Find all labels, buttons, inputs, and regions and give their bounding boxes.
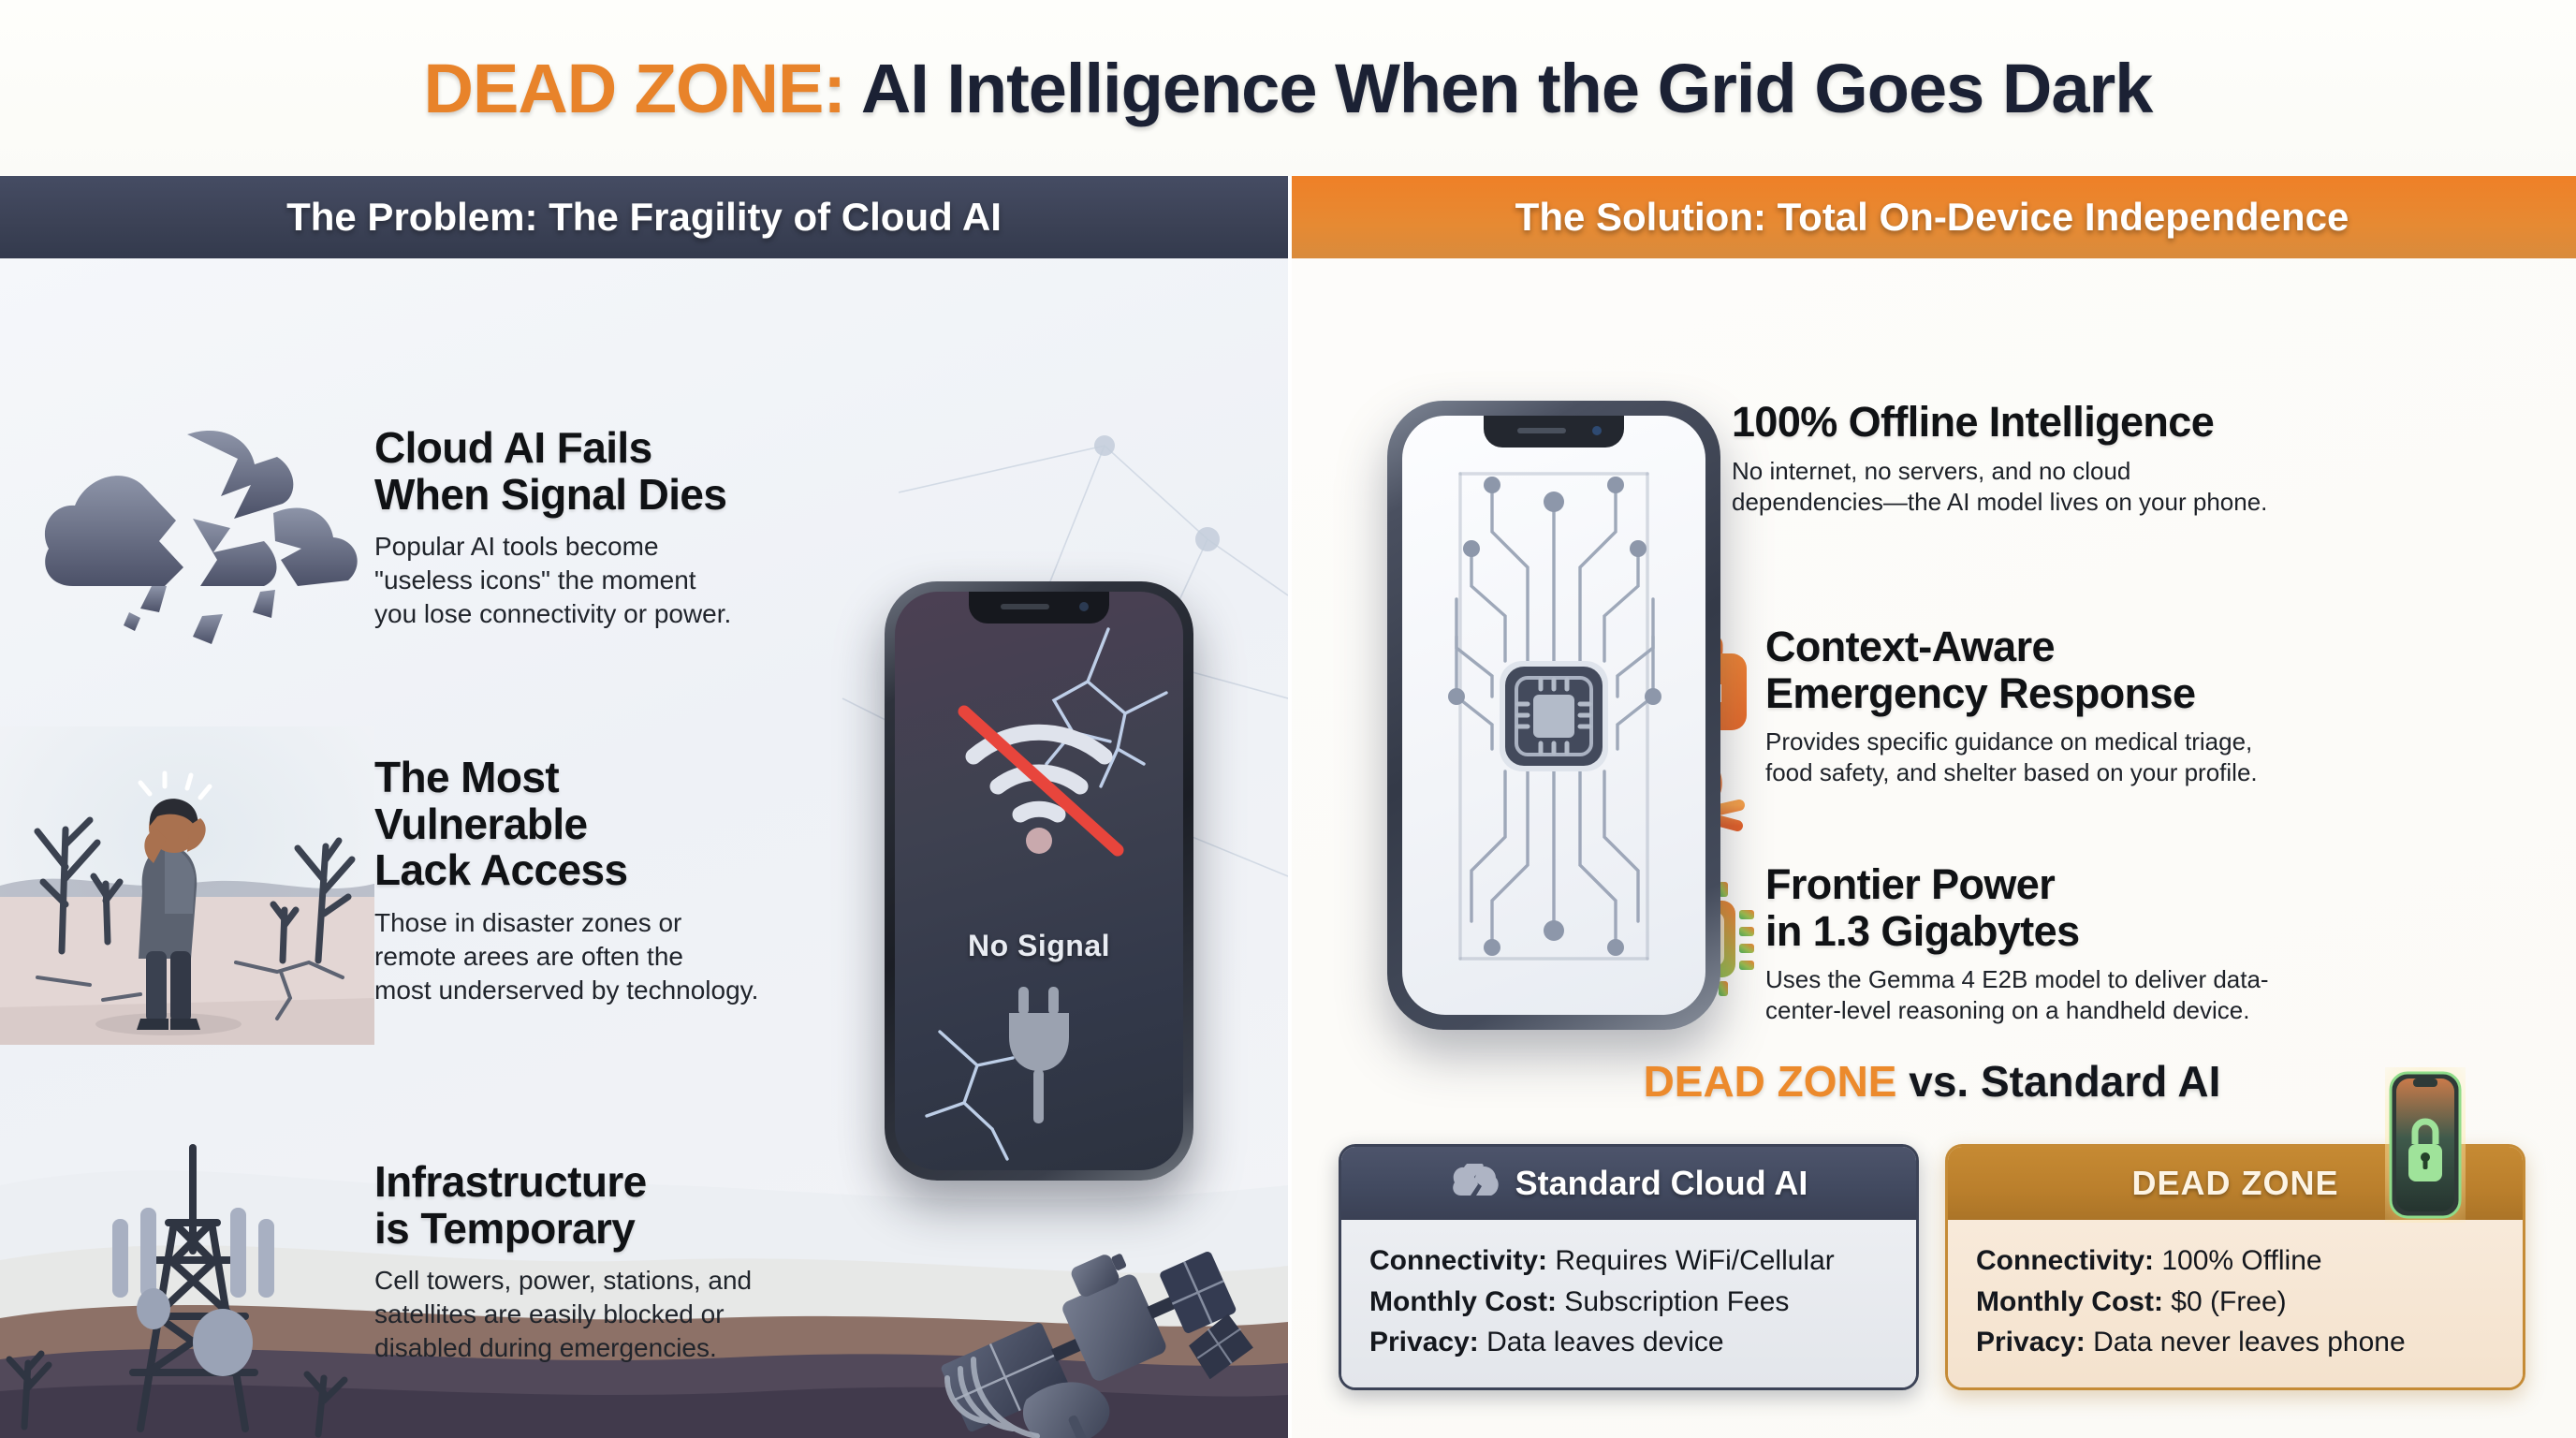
band-problem: The Problem: The Fragility of Cloud AI (0, 176, 1288, 258)
comparison-row-value: Data leaves device (1479, 1327, 1724, 1357)
broken-cloud-icon (0, 399, 374, 680)
comparison-row: Privacy: Data leaves device (1369, 1322, 1888, 1363)
broken-satellite-icon (899, 1204, 1273, 1438)
power-plug-icon (996, 985, 1082, 1125)
problem-block-2: The Most Vulnerable Lack Access Those in… (0, 726, 880, 1045)
comparison-row-label: Privacy: (1976, 1327, 2086, 1357)
comparison-card-deadzone-body: Connectivity: 100% Offline Monthly Cost:… (1948, 1220, 2523, 1387)
solution-block-1: 100% Offline Intelligence No internet, n… (1732, 399, 2546, 518)
solution-block-2-body: Provides specific guidance on medical tr… (1765, 726, 2552, 789)
page-title-bar: DEAD ZONE: AI Intelligence When the Grid… (0, 0, 2576, 176)
problem-block-3-heading: Infrastructure is Temporary (374, 1159, 880, 1252)
band-solution: The Solution: Total On-Device Independen… (1288, 176, 2576, 258)
on-device-ai-phone-screen (1402, 416, 1705, 1015)
comparison-row: Monthly Cost: $0 (Free) (1976, 1282, 2495, 1323)
comparison-card-standard-title: Standard Cloud AI (1515, 1164, 1808, 1203)
phone-notch (1484, 416, 1624, 448)
wifi-slash-icon (945, 702, 1133, 861)
locked-phone-icon (2385, 1067, 2466, 1223)
comparison-row-value: $0 (Free) (2163, 1286, 2287, 1317)
comparison-row: Connectivity: Requires WiFi/Cellular (1369, 1240, 1888, 1282)
problem-block-1-body: Popular AI tools become "useless icons" … (374, 530, 880, 630)
problem-block-2-heading: The Most Vulnerable Lack Access (374, 755, 880, 894)
comparison-row: Privacy: Data never leaves phone (1976, 1322, 2495, 1363)
problem-block-2-text: The Most Vulnerable Lack Access Those in… (374, 726, 880, 1007)
distressed-person-drought-icon (0, 726, 374, 1045)
problem-column: Cloud AI Fails When Signal Dies Popular … (0, 258, 1288, 1438)
comparison-cards: Standard Cloud AI Connectivity: Requires… (1339, 1144, 2555, 1390)
comparison-row-value: Subscription Fees (1557, 1286, 1789, 1317)
problem-block-1-heading: Cloud AI Fails When Signal Dies (374, 425, 880, 518)
phone-notch (969, 592, 1109, 624)
solution-block-3: Frontier Power in 1.3 Gigabytes Uses the… (1765, 861, 2561, 1027)
comparison-row: Connectivity: 100% Offline (1976, 1240, 2495, 1282)
cell-tower-illustration (0, 1129, 374, 1438)
comparison-title-accent: DEAD ZONE (1644, 1057, 1897, 1106)
no-signal-status: No Signal (895, 929, 1183, 963)
solution-block-2-heading: Context-Aware Emergency Response (1765, 624, 2552, 716)
solution-block-3-body: Uses the Gemma 4 E2B model to deliver da… (1765, 964, 2561, 1027)
column-divider (1288, 176, 1292, 1438)
solution-block-1-heading: 100% Offline Intelligence (1732, 399, 2546, 446)
drought-person-illustration (0, 726, 374, 1045)
comparison-card-standard-cloud-ai[interactable]: Standard Cloud AI Connectivity: Requires… (1339, 1144, 1919, 1390)
no-signal-phone: No Signal (885, 581, 1193, 1181)
solution-block-3-heading: Frontier Power in 1.3 Gigabytes (1765, 861, 2561, 954)
page-title: DEAD ZONE: AI Intelligence When the Grid… (424, 49, 2153, 128)
page-title-rest: AI Intelligence When the Grid Goes Dark (845, 50, 2152, 127)
comparison-row-label: Monthly Cost: (1369, 1286, 1557, 1317)
broken-cloud-icon (1450, 1164, 1500, 1203)
comparison-row-label: Connectivity: (1369, 1245, 1547, 1276)
comparison-row-value: Data never leaves phone (2086, 1327, 2406, 1357)
cell-tower-icon (0, 1129, 374, 1438)
comparison-row-label: Connectivity: (1976, 1245, 2154, 1276)
no-signal-phone-screen: No Signal (895, 592, 1183, 1170)
on-device-ai-phone (1387, 401, 1720, 1030)
problem-block-2-body: Those in disaster zones or remote arees … (374, 906, 880, 1006)
broken-cloud-illustration (0, 399, 374, 680)
problem-block-3-text: Infrastructure is Temporary Cell towers,… (374, 1129, 880, 1365)
problem-block-3-body: Cell towers, power, stations, and satell… (374, 1264, 880, 1364)
comparison-card-standard-header: Standard Cloud AI (1341, 1147, 1916, 1220)
comparison-row-label: Privacy: (1369, 1327, 1479, 1357)
comparison-row: Monthly Cost: Subscription Fees (1369, 1282, 1888, 1323)
comparison-title: DEAD ZONE vs. Standard AI (1288, 1056, 2576, 1107)
comparison-card-standard-body: Connectivity: Requires WiFi/Cellular Mon… (1341, 1220, 1916, 1387)
comparison-row-value: Requires WiFi/Cellular (1547, 1245, 1835, 1276)
circuit-traces-icon (1402, 416, 1705, 1015)
problem-block-1: Cloud AI Fails When Signal Dies Popular … (0, 399, 880, 680)
solution-block-1-body: No internet, no servers, and no cloud de… (1732, 456, 2546, 519)
problem-block-3: Infrastructure is Temporary Cell towers,… (0, 1129, 880, 1438)
comparison-card-deadzone-title: DEAD ZONE (2131, 1164, 2338, 1203)
solution-block-2: Context-Aware Emergency Response Provide… (1765, 624, 2552, 789)
comparison-row-value: 100% Offline (2154, 1245, 2322, 1276)
comparison-row-label: Monthly Cost: (1976, 1286, 2163, 1317)
page-title-accent: DEAD ZONE: (424, 50, 845, 127)
comparison-title-rest: vs. Standard AI (1896, 1057, 2220, 1106)
problem-block-1-text: Cloud AI Fails When Signal Dies Popular … (374, 399, 880, 631)
